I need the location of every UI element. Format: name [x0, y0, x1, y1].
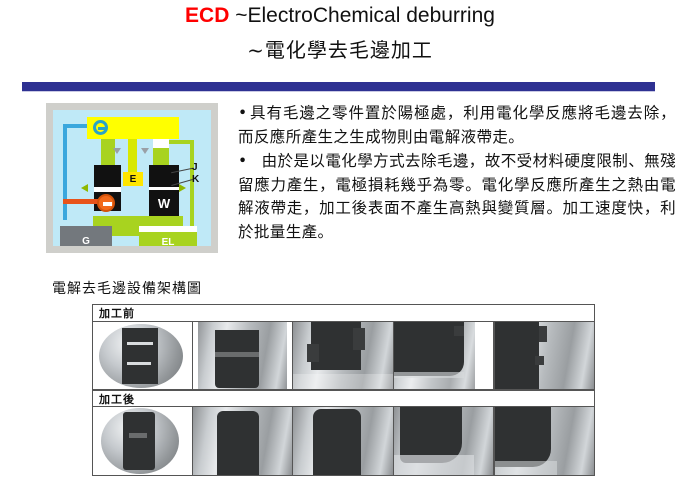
- label-j: J: [192, 162, 198, 173]
- diagram-canvas: E W J K G EL: [53, 110, 211, 246]
- photo-cell: [494, 407, 594, 475]
- generator-box: G: [60, 226, 112, 246]
- bullet-marker: •: [238, 152, 248, 170]
- valve-icon: [97, 194, 115, 212]
- bore-photo: [495, 322, 594, 389]
- bore-photo: [193, 407, 292, 475]
- photo-cell: [394, 407, 494, 475]
- row-label-before: 加工前: [93, 305, 135, 321]
- photo-cell: [394, 322, 494, 389]
- photo-cell: [93, 322, 193, 389]
- photo-cell: [193, 407, 293, 475]
- bullet-text: 具有毛邊之零件置於陽極處，利用電化學反應將毛邊去除，而反應所產生之生成物則由電解…: [238, 104, 676, 146]
- pump-icon: [93, 120, 108, 135]
- bore-photo: [193, 322, 292, 389]
- flow-arrow-left: [81, 184, 88, 192]
- flow-arrow-down-2: [141, 148, 149, 154]
- photo-cell: [293, 322, 393, 389]
- table-row-label-after: 加工後: [93, 390, 594, 407]
- label-k: K: [192, 174, 199, 185]
- before-after-photo-table: 加工前: [92, 304, 595, 476]
- workpiece-label: W: [149, 190, 179, 216]
- bore-photo: [394, 322, 493, 389]
- row-label-after: 加工後: [93, 391, 135, 406]
- return-pipe-vertical: [190, 140, 194, 236]
- bore-photo: [495, 407, 594, 475]
- photo-cell: [193, 322, 293, 389]
- diagram-frame: E W J K G EL: [46, 103, 218, 253]
- bullet-item-2: •由於是以電化學方式去除毛邊，故不受材料硬度限制、無殘留應力產生，電極損耗幾乎為…: [238, 150, 676, 244]
- column-center: [128, 139, 137, 173]
- blue-pipe-horizontal: [63, 124, 90, 128]
- bullet-marker: •: [238, 104, 248, 122]
- bullet-item-1: •具有毛邊之零件置於陽極處，利用電化學反應將毛邊去除，而反應所產生之生成物則由電…: [238, 102, 676, 149]
- bore-photo: [293, 322, 392, 389]
- body-text-block: •具有毛邊之零件置於陽極處，利用電化學反應將毛邊去除，而反應所產生之生成物則由電…: [238, 102, 676, 245]
- electrode-label: E: [123, 172, 143, 186]
- bore-photo: [394, 407, 493, 475]
- diagram-caption: 電解去毛邊設備架構圖: [22, 278, 232, 298]
- ecd-equipment-diagram: E W J K G EL: [46, 103, 218, 253]
- title-block: ECD ~ElectroChemical deburring ~電化學去毛邊加工: [0, 4, 680, 63]
- title-divider-bar: [22, 82, 655, 91]
- photo-cell: [293, 407, 393, 475]
- table-row-label-before: 加工前: [93, 305, 594, 322]
- photo-cell: [93, 407, 193, 475]
- electrolyte-label: EL: [139, 232, 197, 246]
- table-row-photos-before: [93, 322, 594, 390]
- bullet-text: 由於是以電化學方式去除毛邊，故不受材料硬度限制、無殘留應力產生，電極損耗幾乎為零…: [238, 152, 676, 241]
- table-row-photos-after: [93, 407, 594, 475]
- column-right-white-band: [153, 139, 169, 148]
- orange-feed-line: [63, 199, 99, 204]
- title-chinese: ~電化學去毛邊加工: [0, 34, 680, 63]
- title-code: ECD: [185, 4, 229, 27]
- flow-arrow-down-1: [113, 148, 121, 154]
- bore-photo: [93, 322, 192, 389]
- slide-root: ECD ~ElectroChemical deburring ~電化學去毛邊加工: [0, 0, 680, 478]
- flow-arrow-right: [179, 184, 186, 192]
- blue-pipe-vertical: [63, 124, 67, 220]
- electrode-block-left-top: [94, 165, 121, 187]
- title-line-english: ECD ~ElectroChemical deburring: [0, 4, 680, 28]
- title-english: ~ElectroChemical deburring: [235, 4, 495, 27]
- photo-cell: [494, 322, 594, 389]
- bore-photo: [293, 407, 392, 475]
- bore-photo: [93, 407, 192, 475]
